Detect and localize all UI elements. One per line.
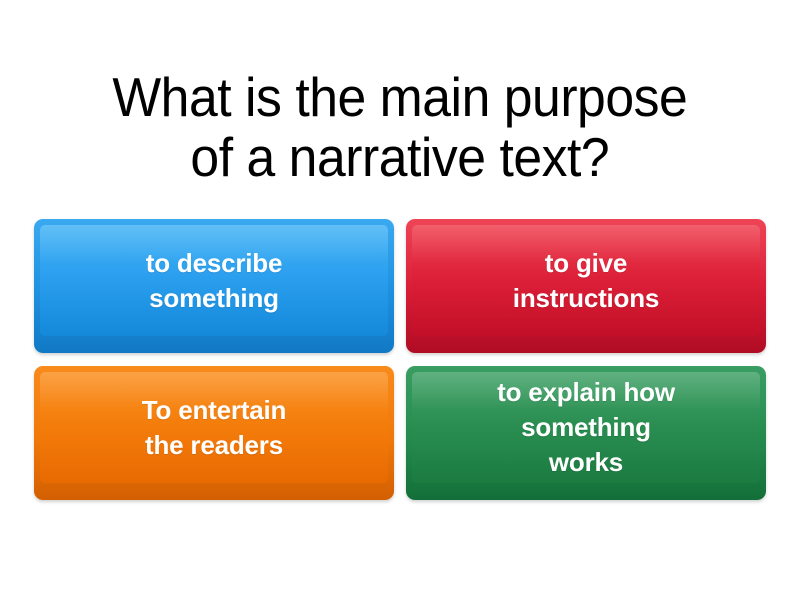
answer-option-green-label: to explain how something works [497, 375, 675, 480]
answer-option-red-face: to give instructions [412, 225, 760, 336]
answer-option-blue-face: to describe something [40, 225, 388, 336]
answer-option-green-face: to explain how something works [412, 372, 760, 483]
answer-option-green[interactable]: to explain how something works [406, 366, 766, 500]
answer-option-red-label: to give instructions [513, 246, 659, 316]
answer-option-blue-label: to describe something [146, 246, 283, 316]
answer-option-orange-face: To entertain the readers [40, 372, 388, 483]
answer-option-red[interactable]: to give instructions [406, 219, 766, 353]
quiz-slide: What is the main purpose of a narrative … [0, 0, 800, 600]
answer-option-orange[interactable]: To entertain the readers [34, 366, 394, 500]
answer-option-blue[interactable]: to describe something [34, 219, 394, 353]
answer-options-grid: to describe something to give instructio… [34, 219, 766, 500]
question-area: What is the main purpose of a narrative … [30, 62, 770, 192]
question-text: What is the main purpose of a narrative … [113, 67, 688, 187]
answer-option-orange-label: To entertain the readers [142, 393, 286, 463]
